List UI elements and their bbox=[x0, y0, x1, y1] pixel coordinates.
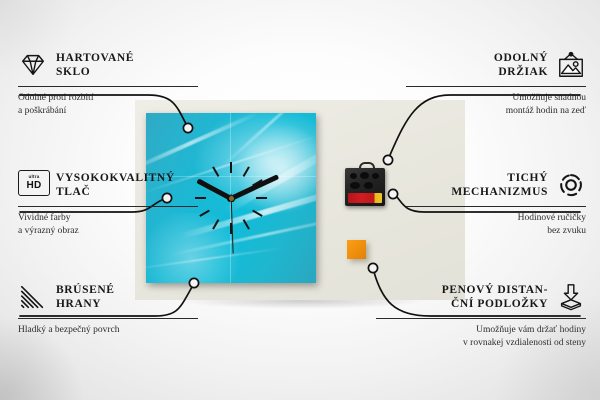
feature-polished-edges: BRÚSENÉ HRANY Hladký a bezpečný povrch bbox=[18, 280, 198, 337]
feature-title-line2: HRANY bbox=[56, 298, 101, 310]
feature-title-line1: VYSOKOKVALITNÝ bbox=[56, 172, 175, 184]
feature-desc-line1: Umožňuje vám držať hodiny bbox=[476, 325, 586, 335]
feature-divider bbox=[18, 86, 198, 87]
feature-title-line1: BRÚSENÉ bbox=[56, 284, 115, 296]
feature-desc-line1: Odolné proti rozbití bbox=[18, 93, 93, 103]
feature-title-line1: TICHÝ bbox=[507, 172, 548, 184]
feature-title-line2: SKLO bbox=[56, 66, 90, 78]
feature-desc-line1: Vividné farby bbox=[18, 213, 70, 223]
feature-divider bbox=[18, 318, 198, 319]
ultra-hd-icon: ultra HD bbox=[18, 170, 48, 200]
feature-desc-line2: v rovnakej vzdialenosti od steny bbox=[463, 338, 586, 348]
ultra-hd-main-text: HD bbox=[26, 181, 41, 191]
feature-foam-spacers: PENOVÝ DISTAN- ČNÍ PODLOŽKY Umožňuje vám… bbox=[376, 280, 586, 349]
foam-pad-icon bbox=[556, 282, 586, 312]
feature-title-line2: MECHANIZMUS bbox=[451, 186, 548, 198]
feature-divider bbox=[376, 318, 586, 319]
brushed-edges-icon bbox=[18, 282, 48, 312]
feature-title-line2: DRŽIAK bbox=[498, 66, 548, 78]
feature-desc-line2: a poškrábání bbox=[18, 106, 66, 116]
feature-desc-line2: bez zvuku bbox=[547, 226, 586, 236]
infographic-canvas: HARTOVANÉ SKLO Odolné proti rozbití a po… bbox=[0, 0, 600, 400]
feature-title-line1: HARTOVANÉ bbox=[56, 52, 134, 64]
diamond-icon bbox=[18, 50, 48, 80]
feature-title-line2: ČNÍ PODLOŽKY bbox=[451, 298, 548, 310]
feature-high-quality-print: ultra HD VYSOKOKVALITNÝ TLAČ Vividné far… bbox=[18, 168, 198, 237]
feature-title-line1: PENOVÝ DISTAN- bbox=[442, 284, 548, 296]
feature-desc-line1: Hodinové ručičky bbox=[518, 213, 586, 223]
feature-title-line2: TLAČ bbox=[56, 186, 90, 198]
feature-title-line1: ODOLNÝ bbox=[494, 52, 548, 64]
feature-desc-line2: a výrazný obraz bbox=[18, 226, 79, 236]
feature-divider bbox=[18, 206, 198, 207]
feature-silent-mechanism: TICHÝ MECHANIZMUS Hodinové ručičky bbox=[406, 168, 586, 237]
feature-divider bbox=[406, 206, 586, 207]
mechanism-body bbox=[345, 168, 385, 206]
mechanism-battery bbox=[348, 193, 382, 203]
feature-divider bbox=[406, 86, 586, 87]
clock-center-pin bbox=[229, 196, 234, 201]
feature-hardened-glass: HARTOVANÉ SKLO Odolné proti rozbití a po… bbox=[18, 48, 198, 117]
feature-desc-line1: Hladký a bezpečný povrch bbox=[18, 325, 120, 335]
picture-hanger-icon bbox=[556, 50, 586, 80]
gear-icon bbox=[556, 170, 586, 200]
clock-mechanism bbox=[345, 162, 385, 206]
feature-desc-line1: Umožňuje snadnou bbox=[512, 93, 586, 103]
feature-desc-line2: montáž hodin na zeď bbox=[506, 106, 586, 116]
foam-spacer-pad bbox=[347, 240, 366, 259]
feature-durable-hanger: ODOLNÝ DRŽIAK Umožňuje snadnou montáž h bbox=[406, 48, 586, 117]
